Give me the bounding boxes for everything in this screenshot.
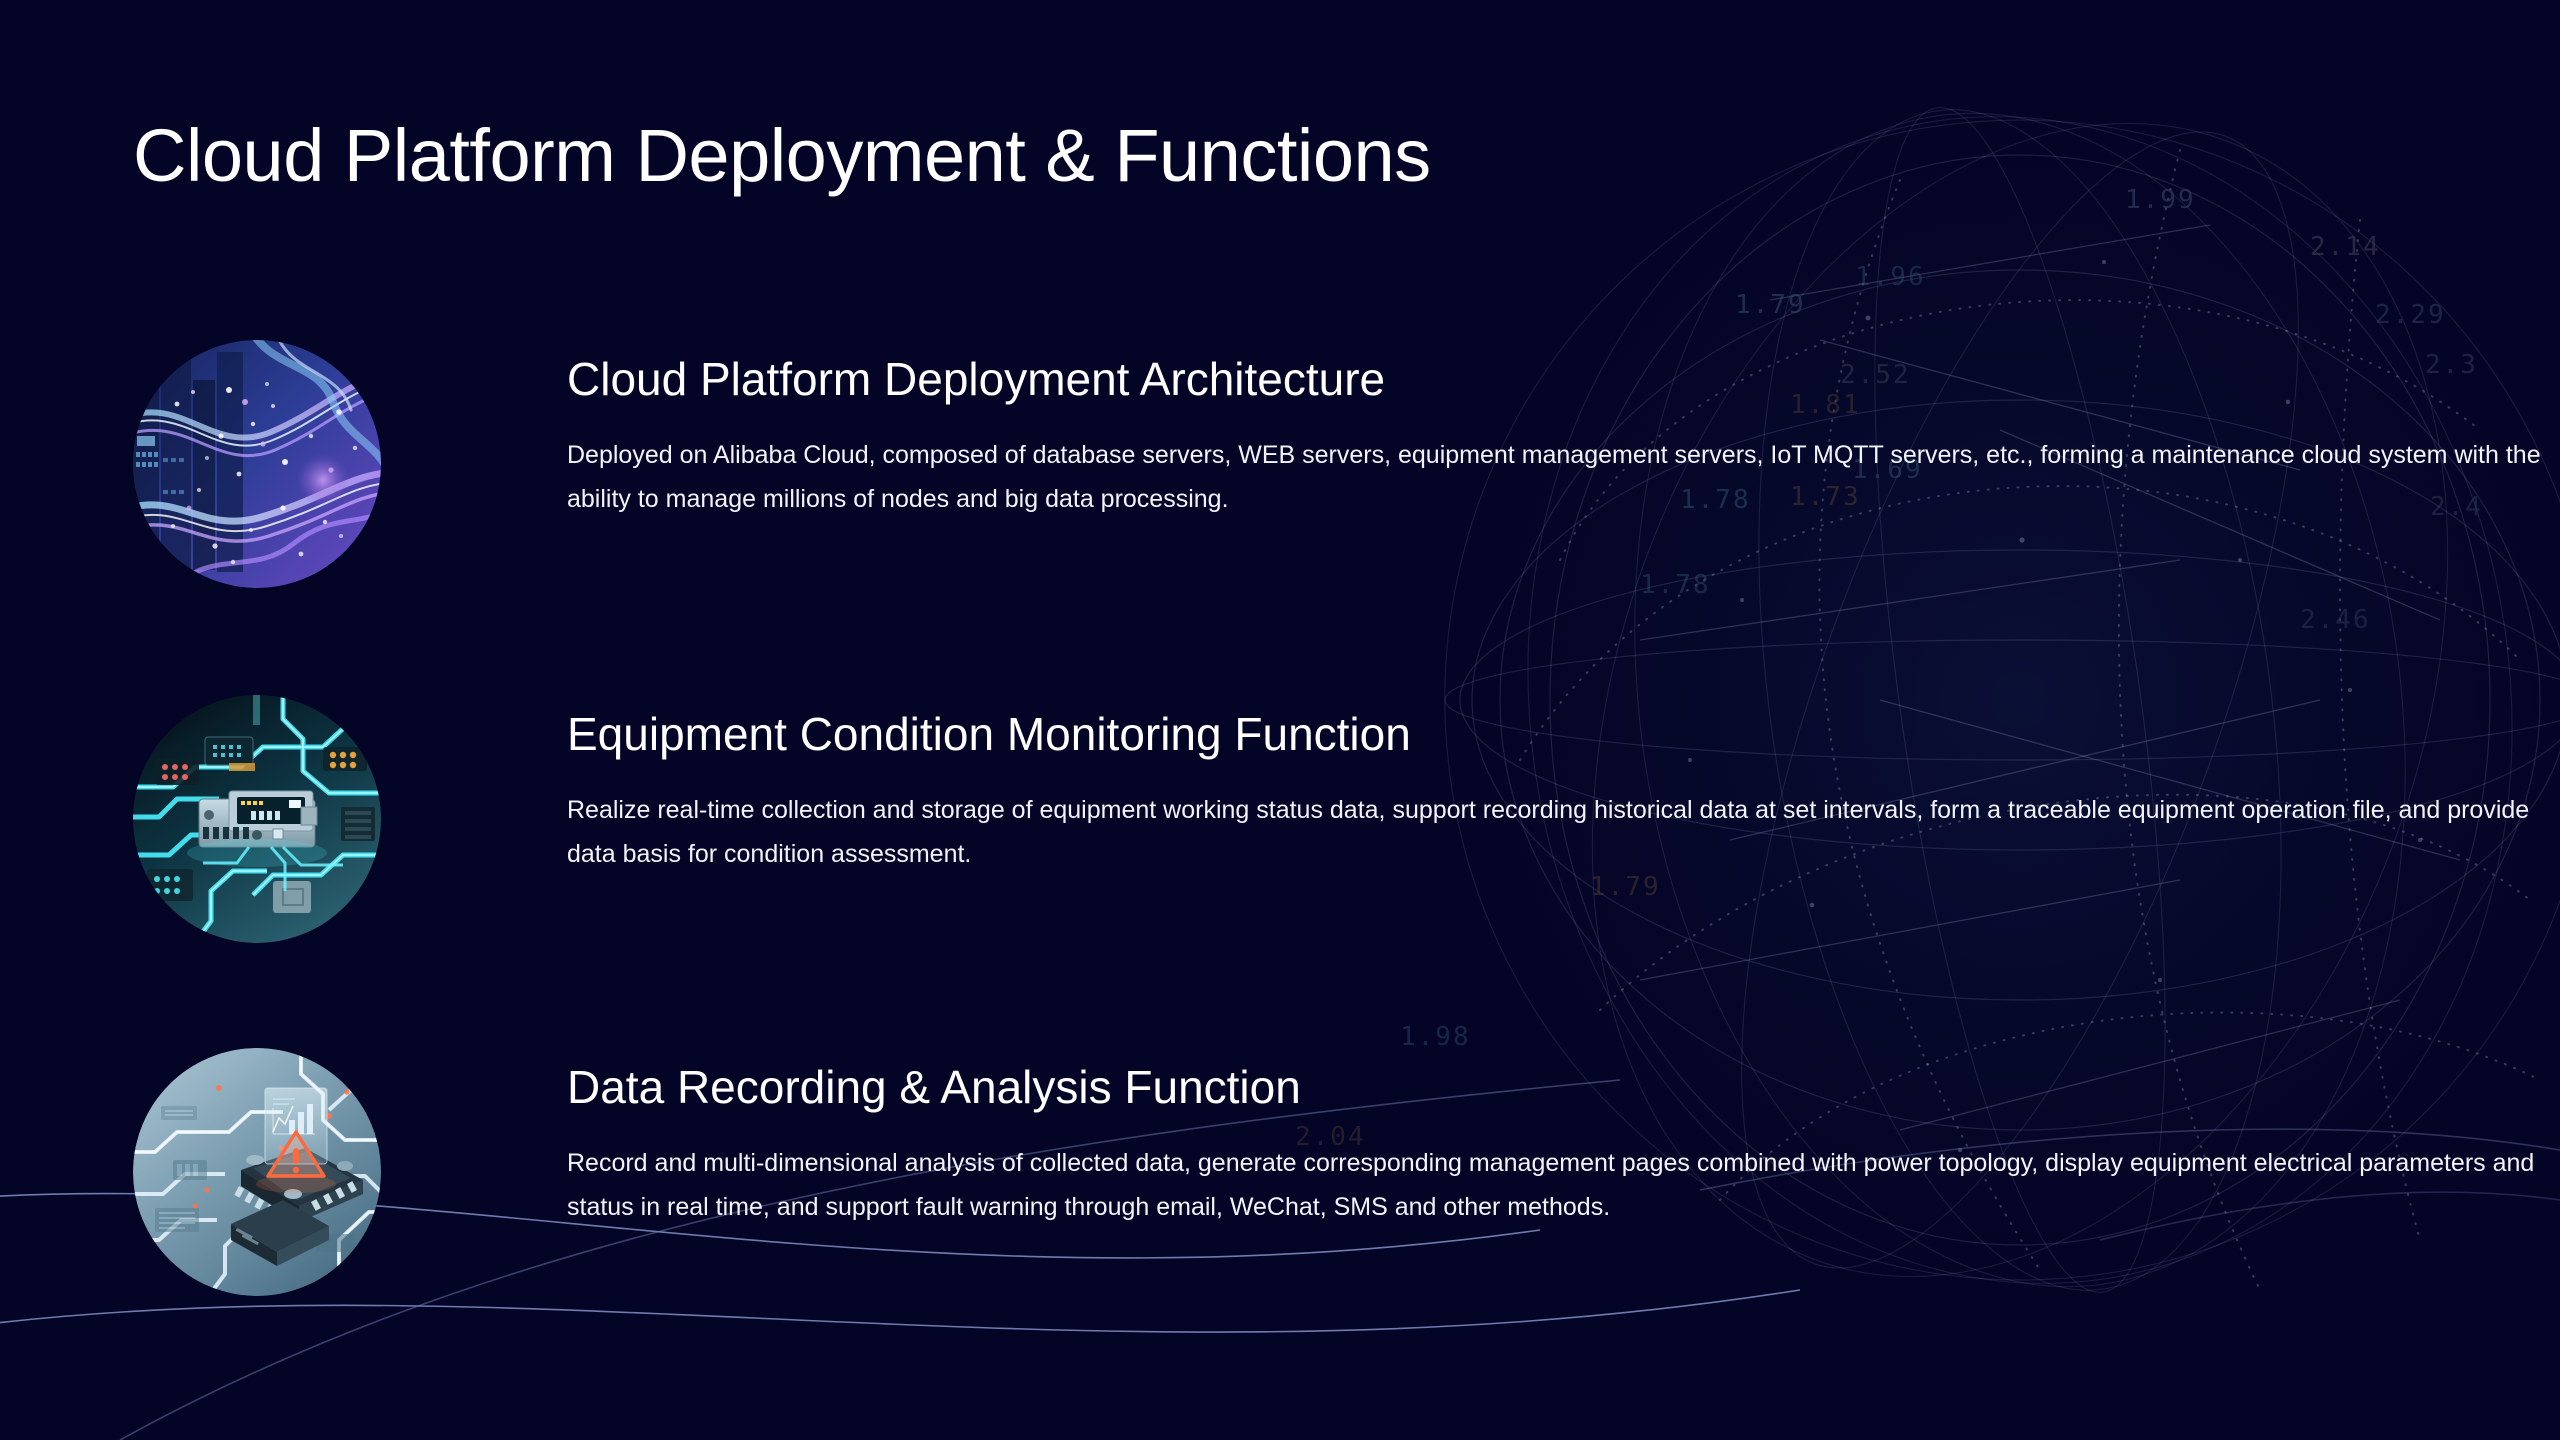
feature-body: Deployed on Alibaba Cloud, composed of d… xyxy=(567,433,2560,522)
feature-body: Realize real-time collection and storage… xyxy=(567,788,2560,877)
server-room-data-streams-image xyxy=(133,340,381,588)
feature-item-condition-monitoring: Equipment Condition Monitoring Function … xyxy=(133,695,2560,943)
page-title: Cloud Platform Deployment & Functions xyxy=(133,117,1431,195)
feature-body: Record and multi-dimensional analysis of… xyxy=(567,1141,2560,1230)
feature-item-data-analysis: Data Recording & Analysis Function Recor… xyxy=(133,1048,2560,1296)
feature-text-block: Data Recording & Analysis Function Recor… xyxy=(567,1048,2560,1230)
feature-list: Cloud Platform Deployment Architecture D… xyxy=(0,0,2560,1440)
feature-heading: Equipment Condition Monitoring Function xyxy=(567,709,2560,760)
feature-item-cloud-deployment: Cloud Platform Deployment Architecture D… xyxy=(133,340,2560,588)
feature-heading: Cloud Platform Deployment Architecture xyxy=(567,354,2560,405)
feature-heading: Data Recording & Analysis Function xyxy=(567,1062,2560,1113)
feature-text-block: Equipment Condition Monitoring Function … xyxy=(567,695,2560,877)
chip-warning-hologram-analytics-image xyxy=(133,1048,381,1296)
glowing-circuit-board-module-image xyxy=(133,695,381,943)
feature-text-block: Cloud Platform Deployment Architecture D… xyxy=(567,340,2560,522)
